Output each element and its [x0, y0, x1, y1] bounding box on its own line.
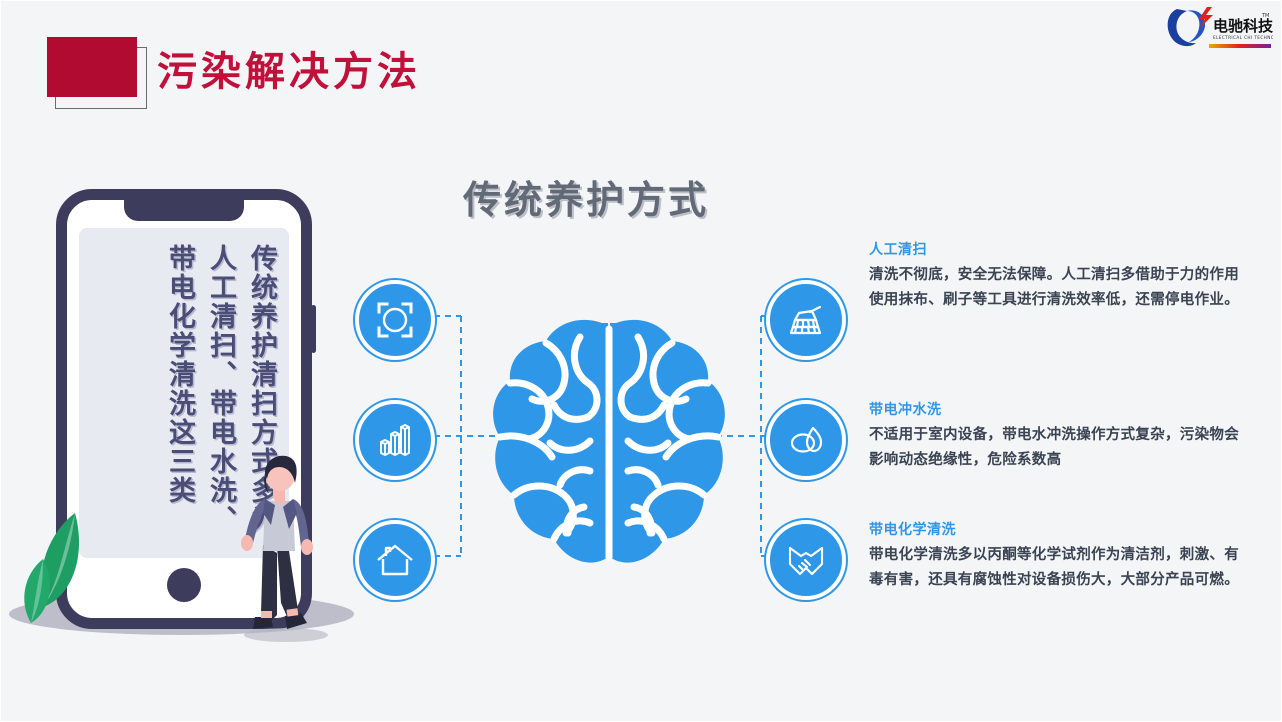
title-badge-rect [47, 37, 137, 97]
page-title-group: 污染解决方法 [47, 27, 567, 117]
info-item-2-body: 不适用于室内设备，带电水冲洗操作方式复杂，污染物会影响动态绝缘性，危险系数高 [869, 423, 1249, 473]
info-item-2-title: 带电冲水洗 [869, 399, 1249, 419]
person-illustration [231, 453, 331, 643]
leaf-decoration [19, 511, 129, 631]
page-title: 污染解决方法 [157, 45, 421, 99]
svg-text:电驰科技: 电驰科技 [1213, 17, 1273, 35]
info-item-3-body: 带电化学清洗多以丙酮等化学试剂作为清洁剂，刺激、有毒有害，还具有腐蚀性对设备损伤… [869, 543, 1249, 593]
water-spray-icon[interactable] [766, 400, 846, 480]
handshake-icon[interactable] [766, 520, 846, 600]
info-item-1-body: 清洗不彻底，安全无法保障。人工清扫多借助于力的作用使用抹布、刷子等工具进行清洗效… [869, 263, 1249, 313]
brain-icon [484, 311, 734, 591]
info-item-3: 带电化学清洗 带电化学清洗多以丙酮等化学试剂作为清洁剂，刺激、有毒有害，还具有腐… [869, 519, 1249, 593]
info-item-1: 人工清扫 清洗不彻底，安全无法保障。人工清扫多借助于力的作用使用抹布、刷子等工具… [869, 239, 1249, 313]
broom-sweep-icon[interactable] [766, 280, 846, 360]
bar-chart-icon[interactable] [355, 400, 435, 480]
phone-side-button [311, 305, 316, 353]
slide-root: 污染解决方法 电驰科技 ELECTRICAL CHI TECHNOLOGY TM… [1, 1, 1281, 721]
company-logo: 电驰科技 ELECTRICAL CHI TECHNOLOGY TM [1163, 3, 1273, 55]
svg-text:TM: TM [1261, 13, 1269, 19]
section-headline: 传统养护方式 [463, 169, 709, 224]
phone-home-button [167, 568, 201, 602]
phone-notch [124, 199, 244, 221]
info-item-1-title: 人工清扫 [869, 239, 1249, 259]
home-icon[interactable] [355, 520, 435, 600]
focus-scan-icon[interactable] [355, 280, 435, 360]
info-item-2: 带电冲水洗 不适用于室内设备，带电水冲洗操作方式复杂，污染物会影响动态绝缘性，危… [869, 399, 1249, 473]
info-item-3-title: 带电化学清洗 [869, 519, 1249, 539]
svg-text:ELECTRICAL CHI TECHNOLOGY: ELECTRICAL CHI TECHNOLOGY [1213, 35, 1273, 40]
phone-text-line-3: 带电化学清洗这三类 [160, 244, 199, 534]
